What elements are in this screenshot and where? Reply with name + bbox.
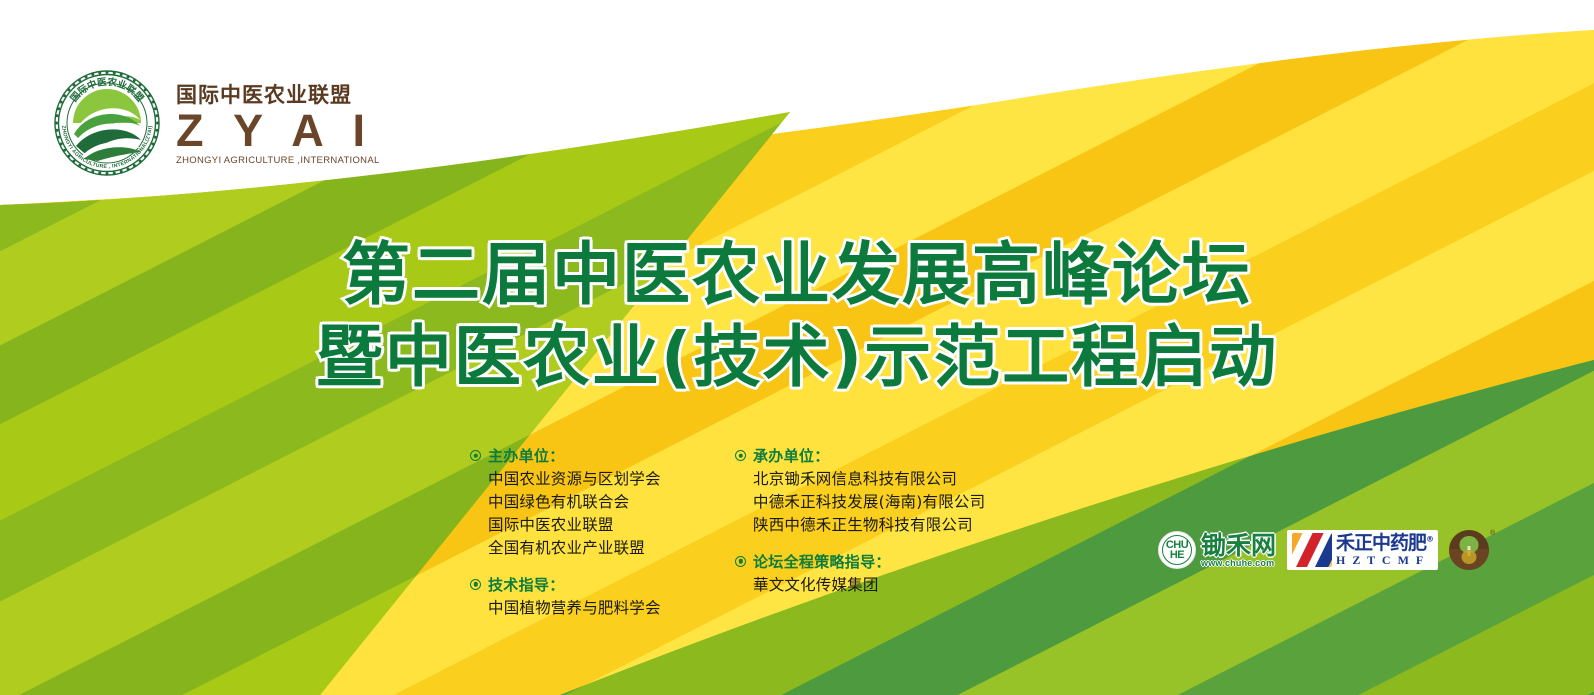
sponsor-logo-hezheng: 禾正中药肥® H Z T C M F bbox=[1287, 530, 1438, 570]
hezheng-name-cn-text: 禾正中药肥 bbox=[1336, 532, 1426, 554]
zyai-emblem-icon: 国际中医农业联盟 ZHONGYI AGRICULTURE , INTERNATI… bbox=[52, 68, 162, 178]
zyai-name-en: ZHONGYI AGRICULTURE ,INTERNATIONAL bbox=[176, 156, 380, 166]
credits-column-right: 承办单位： 北京锄禾网信息科技有限公司 中德禾正科技发展(海南)有限公司 陕西中… bbox=[735, 445, 1065, 634]
poster-title: 第二届中医农业发展高峰论坛 暨中医农业(技术)示范工程启动 bbox=[0, 238, 1594, 395]
credit-group-organizer: 主办单位： 中国农业资源与区划学会 中国绿色有机联合会 国际中医农业联盟 全国有… bbox=[470, 445, 735, 560]
hezheng-name-en: H Z T C M F bbox=[1336, 554, 1433, 566]
credit-heading-organizer: 主办单位： bbox=[470, 445, 735, 466]
zyai-name-cn: 国际中医农业联盟 bbox=[176, 85, 380, 106]
credit-item: 陕西中德禾正生物科技有限公司 bbox=[753, 514, 1065, 537]
bullet-icon bbox=[735, 450, 746, 461]
sponsor-logo-row: CHUHE 锄禾网 www.chuhe.com 禾正中药肥® H Z T C M… bbox=[1158, 530, 1495, 570]
credit-items-host: 北京锄禾网信息科技有限公司 中德禾正科技发展(海南)有限公司 陕西中德禾正生物科… bbox=[753, 468, 1065, 537]
tree-emblem-icon bbox=[1449, 530, 1489, 570]
bullet-icon bbox=[470, 450, 481, 461]
sponsor-logo-chuhe: CHUHE 锄禾网 www.chuhe.com bbox=[1158, 531, 1276, 569]
credit-item: 国际中医农业联盟 bbox=[488, 514, 735, 537]
credit-heading-strategy: 论坛全程策略指导： bbox=[735, 551, 1065, 572]
credit-group-strategy: 论坛全程策略指导： 華文文化传媒集团 bbox=[735, 551, 1065, 597]
zyai-logo-text: 国际中医农业联盟 Z Y A I ZHONGYI AGRICULTURE ,IN… bbox=[176, 81, 380, 166]
credit-items-strategy: 華文文化传媒集团 bbox=[753, 574, 1065, 597]
poster-canvas: 国际中医农业联盟 ZHONGYI AGRICULTURE , INTERNATI… bbox=[0, 0, 1594, 695]
hezheng-name-cn: 禾正中药肥® bbox=[1336, 534, 1433, 553]
credit-heading-label: 承办单位： bbox=[753, 445, 830, 466]
sponsor-logo-tree-emblem: ® bbox=[1449, 530, 1495, 570]
credit-item: 中国绿色有机联合会 bbox=[488, 491, 735, 514]
bullet-icon bbox=[470, 579, 481, 590]
zyai-logo: 国际中医农业联盟 ZHONGYI AGRICULTURE , INTERNATI… bbox=[52, 68, 380, 178]
credit-heading-label: 论坛全程策略指导： bbox=[753, 551, 891, 572]
credit-heading-label: 主办单位： bbox=[488, 445, 565, 466]
zyai-acronym: Z Y A I bbox=[176, 109, 380, 153]
credit-item: 中德禾正科技发展(海南)有限公司 bbox=[753, 491, 1065, 514]
credit-heading-tech-guidance: 技术指导： bbox=[470, 574, 735, 595]
credit-group-host: 承办单位： 北京锄禾网信息科技有限公司 中德禾正科技发展(海南)有限公司 陕西中… bbox=[735, 445, 1065, 537]
chuhe-name-cn: 锄禾网 bbox=[1201, 533, 1276, 558]
credit-group-tech-guidance: 技术指导： 中国植物营养与肥料学会 bbox=[470, 574, 735, 620]
credit-heading-host: 承办单位： bbox=[735, 445, 1065, 466]
credit-item: 中国农业资源与区划学会 bbox=[488, 468, 735, 491]
chuhe-badge-icon: CHUHE bbox=[1158, 531, 1196, 569]
credit-items-organizer: 中国农业资源与区划学会 中国绿色有机联合会 国际中医农业联盟 全国有机农业产业联… bbox=[488, 468, 735, 560]
credits-block: 主办单位： 中国农业资源与区划学会 中国绿色有机联合会 国际中医农业联盟 全国有… bbox=[470, 445, 1065, 634]
credit-item: 北京锄禾网信息科技有限公司 bbox=[753, 468, 1065, 491]
hezheng-mark-icon bbox=[1292, 533, 1332, 567]
credit-item: 全国有机农业产业联盟 bbox=[488, 537, 735, 560]
tree-root-icon bbox=[1462, 550, 1477, 564]
chuhe-badge-text: CHUHE bbox=[1166, 540, 1188, 561]
bullet-icon bbox=[735, 556, 746, 567]
title-line-2: 暨中医农业(技术)示范工程启动 bbox=[0, 320, 1594, 395]
credit-item: 中国植物营养与肥料学会 bbox=[488, 597, 735, 620]
credit-item: 華文文化传媒集团 bbox=[753, 574, 1065, 597]
title-line-1: 第二届中医农业发展高峰论坛 bbox=[0, 238, 1594, 314]
credits-column-left: 主办单位： 中国农业资源与区划学会 中国绿色有机联合会 国际中医农业联盟 全国有… bbox=[470, 445, 735, 634]
chuhe-wordmark: 锄禾网 www.chuhe.com bbox=[1201, 533, 1276, 568]
trademark-icon: ® bbox=[1426, 535, 1433, 544]
hezheng-wordmark: 禾正中药肥® H Z T C M F bbox=[1336, 534, 1433, 566]
trademark-icon: ® bbox=[1490, 530, 1495, 537]
chuhe-url: www.chuhe.com bbox=[1201, 559, 1276, 568]
credit-heading-label: 技术指导： bbox=[488, 574, 565, 595]
credit-items-tech-guidance: 中国植物营养与肥料学会 bbox=[488, 597, 735, 620]
